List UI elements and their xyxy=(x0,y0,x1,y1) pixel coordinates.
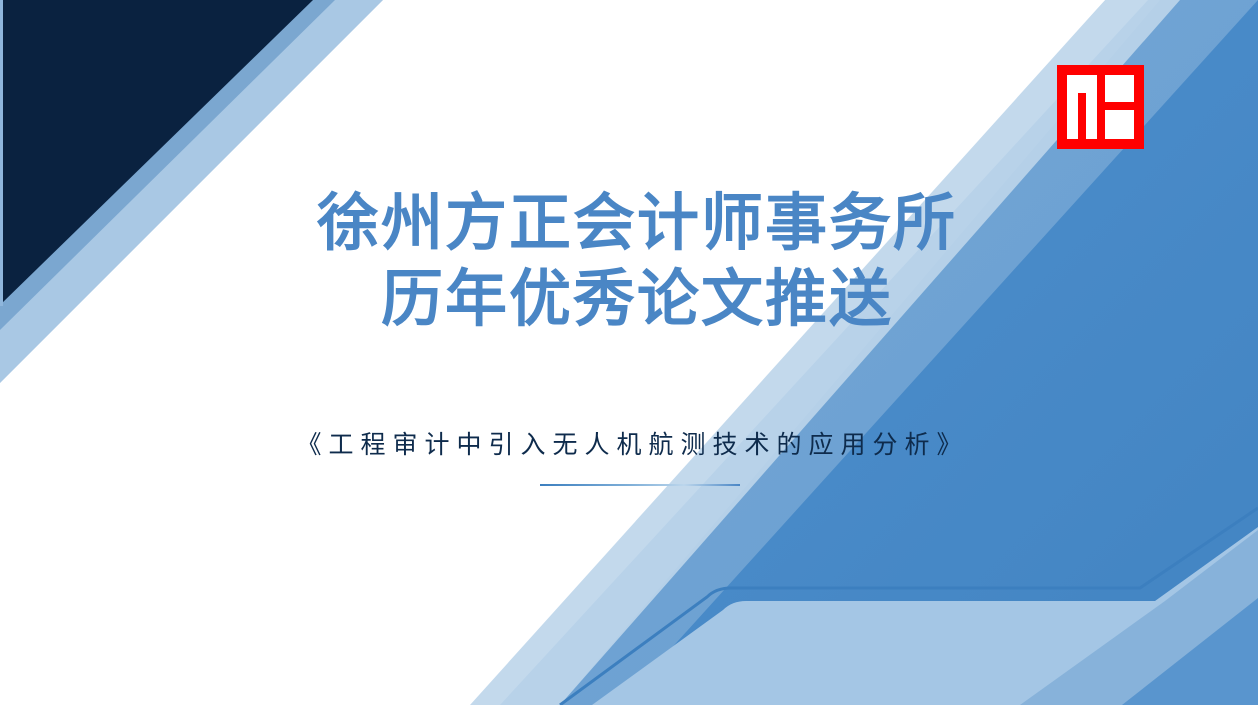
title-line-1: 徐州方正会计师事务所 xyxy=(16,186,1258,262)
slide-canvas: 徐州方正会计师事务所 历年优秀论文推送 《工程审计中引入无人机航测技术的应用分析… xyxy=(0,0,1258,705)
title-line-2: 历年优秀论文推送 xyxy=(16,262,1258,338)
subtitle-divider xyxy=(540,484,740,486)
page-title: 徐州方正会计师事务所 历年优秀论文推送 xyxy=(0,186,1258,338)
subtitle-text: 《工程审计中引入无人机航测技术的应用分析》 xyxy=(0,425,1258,461)
slide-content: 徐州方正会计师事务所 历年优秀论文推送 《工程审计中引入无人机航测技术的应用分析… xyxy=(0,0,1258,705)
fangzheng-logo-icon xyxy=(1057,65,1144,149)
